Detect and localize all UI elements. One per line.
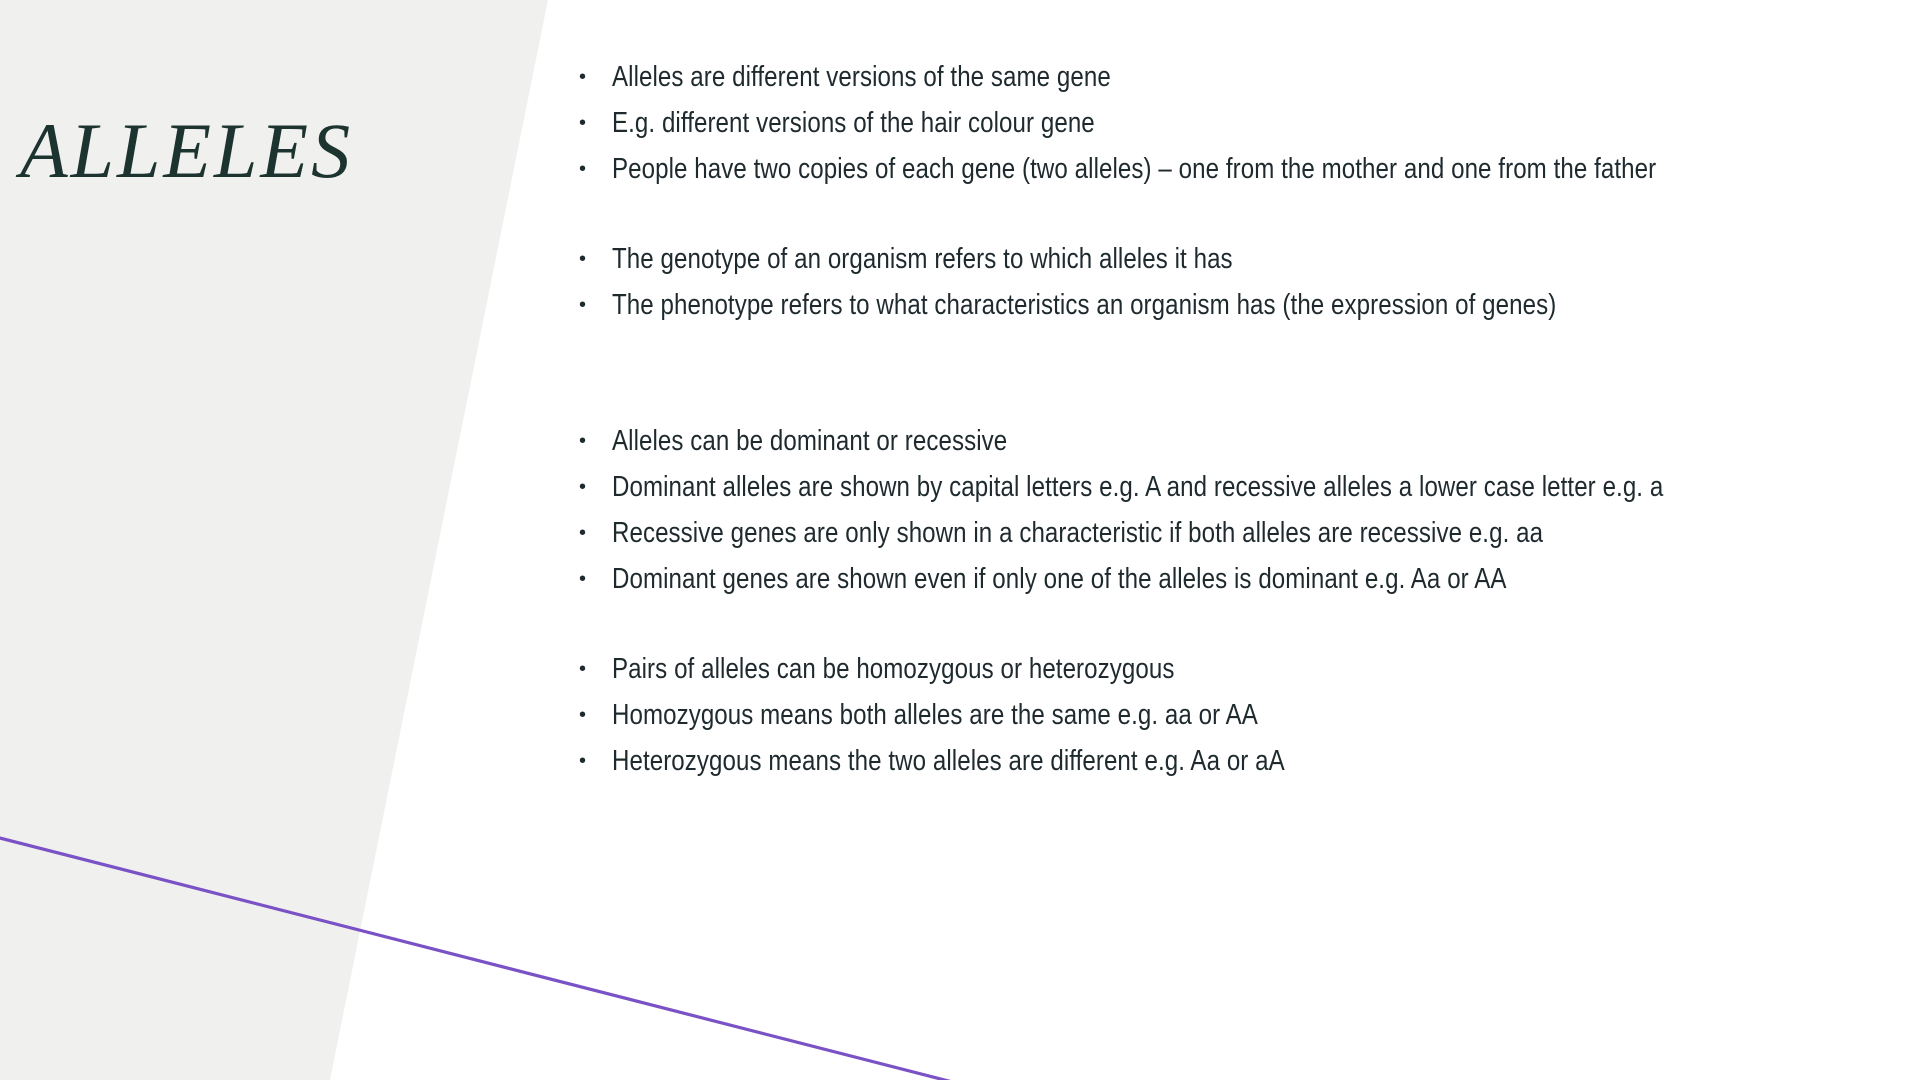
bullet-point-icon: • xyxy=(578,62,612,92)
bullet-text: Alleles are different versions of the sa… xyxy=(612,62,1699,92)
list-item: • E.g. different versions of the hair co… xyxy=(578,108,1898,154)
list-item: • Dominant alleles are shown by capital … xyxy=(578,472,1898,518)
purple-accent-line xyxy=(0,836,968,1080)
bullet-point-icon: • xyxy=(578,654,612,684)
title-block: ALLELES xyxy=(20,96,480,206)
bullet-text: Homozygous means both alleles are the sa… xyxy=(612,700,1699,730)
slide-canvas: ALLELES • Alleles are different versions… xyxy=(0,0,1920,1080)
bullet-point-icon: • xyxy=(578,564,612,594)
list-item: • Alleles can be dominant or recessive xyxy=(578,426,1898,472)
list-item: • The phenotype refers to what character… xyxy=(578,290,1898,336)
bullet-point-icon: • xyxy=(578,244,612,274)
bullet-point-icon: • xyxy=(578,108,612,138)
bullet-text: E.g. different versions of the hair colo… xyxy=(612,108,1699,138)
bullet-text: Pairs of alleles can be homozygous or he… xyxy=(612,654,1699,684)
bullet-group-genotype-phenotype: • The genotype of an organism refers to … xyxy=(578,244,1898,336)
bullet-text: Dominant alleles are shown by capital le… xyxy=(612,472,1699,502)
bullet-text: People have two copies of each gene (two… xyxy=(612,154,1699,184)
bullet-point-icon: • xyxy=(578,290,612,320)
bullet-group-dominant-recessive: • Alleles can be dominant or recessive •… xyxy=(578,426,1898,610)
list-item: • Dominant genes are shown even if only … xyxy=(578,564,1898,610)
bullet-text: Recessive genes are only shown in a char… xyxy=(612,518,1699,548)
bullet-point-icon: • xyxy=(578,746,612,776)
list-item: • Homozygous means both alleles are the … xyxy=(578,700,1898,746)
list-item: • The genotype of an organism refers to … xyxy=(578,244,1898,290)
bullet-point-icon: • xyxy=(578,472,612,502)
bullet-group-definitions: • Alleles are different versions of the … xyxy=(578,62,1898,200)
bullet-text: Heterozygous means the two alleles are d… xyxy=(612,746,1699,776)
page-title: ALLELES xyxy=(20,112,353,190)
group-spacer xyxy=(578,200,1898,244)
bullet-group-zygosity: • Pairs of alleles can be homozygous or … xyxy=(578,654,1898,792)
group-spacer xyxy=(578,336,1898,426)
bullet-text: Alleles can be dominant or recessive xyxy=(612,426,1699,456)
group-spacer xyxy=(578,610,1898,654)
bullet-point-icon: • xyxy=(578,154,612,184)
bullet-point-icon: • xyxy=(578,518,612,548)
bullet-point-icon: • xyxy=(578,426,612,456)
body-content: • Alleles are different versions of the … xyxy=(578,62,1898,792)
list-item: • Alleles are different versions of the … xyxy=(578,62,1898,108)
bullet-text: Dominant genes are shown even if only on… xyxy=(612,564,1699,594)
bullet-point-icon: • xyxy=(578,700,612,730)
bullet-text: The genotype of an organism refers to wh… xyxy=(612,244,1699,274)
list-item: • Pairs of alleles can be homozygous or … xyxy=(578,654,1898,700)
list-item: • People have two copies of each gene (t… xyxy=(578,154,1898,200)
list-item: • Recessive genes are only shown in a ch… xyxy=(578,518,1898,564)
bullet-text: The phenotype refers to what characteris… xyxy=(612,290,1699,320)
list-item: • Heterozygous means the two alleles are… xyxy=(578,746,1898,792)
